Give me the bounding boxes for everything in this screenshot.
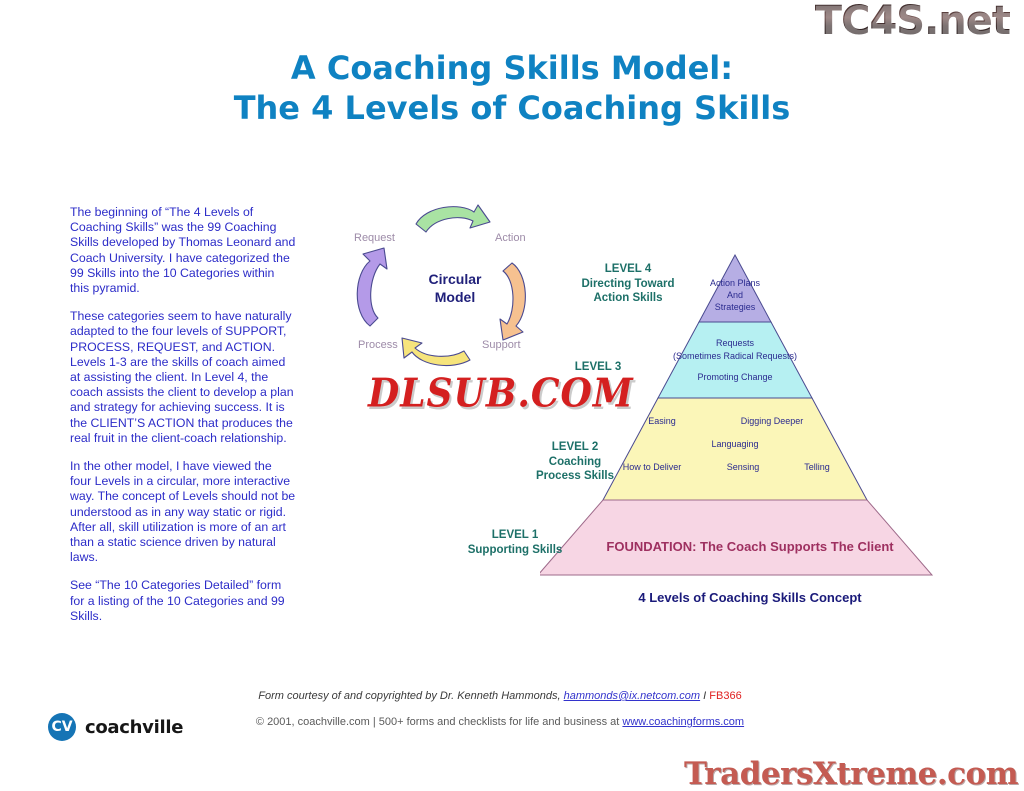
footer-credit-text: Form courtesy of and copyrighted by Dr. … <box>258 690 560 702</box>
pyramid-caption: 4 Levels of Coaching Skills Concept <box>540 590 960 605</box>
coachville-badge-icon: CV <box>48 713 76 741</box>
band-item-and: And <box>703 290 767 300</box>
narrative-paragraph: The beginning of “The 4 Levels of Coachi… <box>70 205 296 296</box>
pyramid-level-label-4: LEVEL 4 Directing Toward Action Skills <box>558 262 698 306</box>
footer-separator: I <box>703 690 706 702</box>
coachville-logo: CV coachville <box>48 713 183 741</box>
band-item-sensing: Sensing <box>712 462 774 472</box>
poster-page: TC4S.net A Coaching Skills Model: The 4 … <box>0 0 1024 791</box>
pyramid-diagram: Action Plans And Strategies Requests (So… <box>540 250 960 610</box>
tc4s-logo: TC4S.net <box>815 0 1010 44</box>
narrative-paragraph: These categories seem to have naturally … <box>70 309 296 446</box>
circular-label-request: Request <box>354 232 395 244</box>
band-item-languaging: Languaging <box>680 439 790 449</box>
level-1-line-2: Supporting Skills <box>445 543 585 558</box>
coachville-wordmark: coachville <box>85 717 183 738</box>
pyramid-band-foundation <box>540 500 932 575</box>
level-4-line-1: LEVEL 4 <box>558 262 698 277</box>
circular-center-line-1: Circular <box>340 270 570 288</box>
pyramid-level-label-1: LEVEL 1 Supporting Skills <box>445 528 585 557</box>
page-title: A Coaching Skills Model: The 4 Levels of… <box>0 48 1024 128</box>
title-line-1: A Coaching Skills Model: <box>0 48 1024 88</box>
arrow-top-green <box>416 205 490 232</box>
band-item-action-plans: Action Plans <box>703 278 767 288</box>
footer-form-code: FB366 <box>709 690 741 702</box>
band-item-strategies: Strategies <box>703 302 767 312</box>
level-2-line-1: LEVEL 2 <box>505 440 645 455</box>
footer-website-link[interactable]: www.coachingforms.com <box>622 716 744 728</box>
band-item-requests: Requests <box>675 338 795 348</box>
footer-email-link[interactable]: hammonds@ix.netcom.com <box>564 690 701 702</box>
band-item-foundation: FOUNDATION: The Coach Supports The Clien… <box>540 539 960 554</box>
circular-center-line-2: Model <box>340 288 570 306</box>
band-item-telling: Telling <box>788 462 846 472</box>
narrative-paragraph: In the other model, I have viewed the fo… <box>70 459 296 565</box>
band-item-digging-deeper: Digging Deeper <box>725 416 819 426</box>
arrow-bottom-yellow <box>402 338 470 366</box>
dlsub-watermark: DLSUB.COM <box>368 371 634 416</box>
title-line-2: The 4 Levels of Coaching Skills <box>0 88 1024 128</box>
circular-label-process: Process <box>358 339 398 351</box>
circular-label-action: Action <box>495 232 526 244</box>
pyramid-level-label-2: LEVEL 2 Coaching Process Skills <box>505 440 645 484</box>
level-4-line-2: Directing Toward <box>558 277 698 292</box>
band-item-promoting-change: Promoting Change <box>675 372 795 382</box>
band-item-radical-requests: (Sometimes Radical Requests) <box>655 351 815 361</box>
circular-model-center-label: Circular Model <box>340 270 570 306</box>
footer-credit-line: Form courtesy of and copyrighted by Dr. … <box>0 690 1000 702</box>
circular-model-diagram: Request Action Process Support Circular … <box>340 198 570 373</box>
footer-copyright-text: © 2001, coachville.com | 500+ forms and … <box>256 716 619 728</box>
level-4-line-3: Action Skills <box>558 291 698 306</box>
circular-label-support: Support <box>482 339 521 351</box>
narrative-text-block: The beginning of “The 4 Levels of Coachi… <box>70 205 296 637</box>
level-2-line-3: Process Skills <box>505 469 645 484</box>
band-item-easing: Easing <box>632 416 692 426</box>
tradersxtreme-watermark: TradersXtreme.com <box>684 756 1018 791</box>
narrative-paragraph: See “The 10 Categories Detailed” form fo… <box>70 578 296 624</box>
level-1-line-1: LEVEL 1 <box>445 528 585 543</box>
level-2-line-2: Coaching <box>505 455 645 470</box>
